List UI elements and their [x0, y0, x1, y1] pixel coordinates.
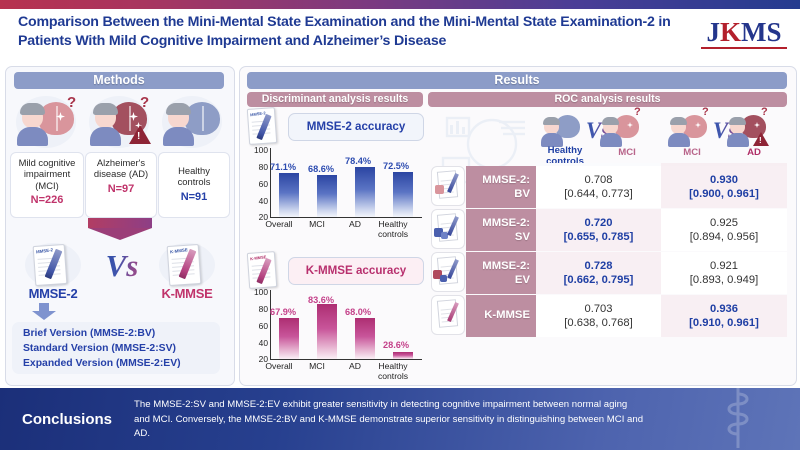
cell-mci-ad: 0.930 [0.900, 0.961] [661, 166, 787, 208]
bar-value-healthy: 72.5% [383, 161, 409, 171]
doc-label: MMSE-2 [250, 110, 266, 117]
doc-label: MMSE-2 [36, 247, 54, 254]
vs-label: Vs [100, 249, 144, 283]
arrow-tip [88, 228, 152, 240]
roc-group-label-left: MCI [663, 148, 721, 159]
question-mark-icon: ? [702, 107, 709, 118]
person-hair [166, 103, 191, 115]
poster-root: Comparison Between the Mini-Mental State… [0, 0, 800, 450]
chart-bars: 71.1% 68.6% 78.4% 72.5% [273, 148, 422, 217]
cell-value: 0.936 [661, 302, 787, 316]
mmse2-bv-doc-icon [431, 166, 465, 206]
mmse2-label: MMSE-2 [14, 286, 92, 301]
person-hair [670, 117, 687, 125]
bar-overall [279, 173, 299, 217]
comparison-mci-vs-ad: ? Vs ? ! MCI AD [663, 110, 785, 162]
person-body [727, 133, 749, 147]
bar-healthy [393, 172, 413, 217]
kmmse-doc-icon [431, 295, 465, 335]
person-hair [93, 103, 118, 115]
results-heading: Results [247, 72, 787, 89]
cell-value: 0.708 [536, 173, 661, 187]
row-label-mmse2-bv: MMSE-2: BV [466, 166, 536, 208]
down-arrow-small-icon [32, 303, 56, 320]
jkms-logo-text: JKMS [698, 19, 790, 46]
y-axis-ticks: 100 80 60 40 20 [246, 288, 268, 360]
bar-value-ad: 78.4% [345, 156, 371, 166]
asclepius-rod-icon [710, 388, 766, 450]
group-card-mci: Mild cognitive impairment (MCI) N=226 [10, 152, 84, 218]
cell-value: 0.925 [661, 216, 787, 230]
cell-hc-mci: 0.728 [0.662, 0.795] [536, 252, 661, 294]
person-hair [602, 117, 619, 125]
bar-value-ad: 68.0% [345, 307, 371, 317]
person-brain-mci-icon: ? [598, 110, 642, 150]
cell-hc-mci: 0.708 [0.644, 0.773] [536, 166, 661, 208]
arrow-shaft [88, 218, 152, 228]
cell-hc-mci: 0.703 [0.638, 0.768] [536, 295, 661, 337]
person-brain-mci-icon: ? [12, 94, 82, 150]
table-row: MMSE-2: SV 0.720 [0.655, 0.785] 0.925 [0… [466, 209, 787, 251]
logo-letter-k: K [720, 17, 741, 47]
top-gradient-rule [0, 0, 800, 9]
cell-ci: [0.893, 0.949] [661, 273, 787, 287]
question-mark-icon: ? [67, 95, 76, 110]
table-row: K-MMSE 0.703 [0.638, 0.768] 0.936 [0.910… [466, 295, 787, 337]
bar-healthy [393, 352, 413, 359]
warning-exclamation: ! [759, 137, 762, 145]
y-axis-line [270, 148, 271, 218]
row-label-line2: BV [514, 188, 530, 200]
title-bar: Comparison Between the Mini-Mental State… [0, 9, 800, 62]
mmse2-chart-doc-icon: MMSE-2 [248, 108, 282, 148]
kmmse-chart-doc-icon: K-MMSE [248, 252, 282, 292]
puzzle-piece-icon [440, 275, 447, 282]
y-tick: 100 [246, 288, 268, 296]
y-axis-line [270, 290, 271, 360]
row-label-mmse2-ev: MMSE-2: EV [466, 252, 536, 294]
bar-mci [317, 175, 337, 217]
person-body [90, 127, 121, 146]
y-axis-ticks: 100 80 60 40 20 [246, 146, 268, 218]
chart-bars: 67.9% 83.6% 68.0% 28.6% [273, 290, 422, 359]
comparison-healthy-vs-mci: Vs ? Healthy controls MCI [536, 110, 658, 162]
person-body [17, 127, 48, 146]
mmse2-versions-box: Brief Version (MMSE-2:BV) Standard Versi… [12, 322, 220, 374]
table-row: MMSE-2: BV 0.708 [0.644, 0.773] 0.930 [0… [466, 166, 787, 208]
y-tick: 80 [246, 163, 268, 171]
row-label-line1: MMSE-2: [482, 174, 530, 186]
kmmse-side: K-MMSE K-MMSE [148, 243, 226, 305]
person-brain-healthy-icon [539, 110, 583, 150]
bar-overall [279, 318, 299, 359]
puzzle-piece-icon [435, 185, 444, 194]
logo-letter-j: J [706, 17, 720, 47]
bar-value-mci: 83.6% [308, 295, 334, 305]
row-label-line2: SV [515, 231, 530, 243]
person-brain-ad-icon: ? ! [85, 94, 155, 150]
cell-ci: [0.638, 0.768] [536, 316, 661, 330]
y-tick: 100 [246, 146, 268, 154]
row-label-line1: MMSE-2: [482, 217, 530, 229]
mmse2-sv-doc-icon [431, 209, 465, 249]
person-hair [20, 103, 45, 115]
question-mark-icon: ? [140, 95, 149, 110]
conclusions-bar: Conclusions The MMSE-2:SV and MMSE-2:EV … [0, 388, 800, 450]
person-body [600, 133, 622, 147]
discriminant-analysis-heading: Discriminant analysis results [247, 92, 423, 107]
cell-ci: [0.900, 0.961] [661, 187, 787, 201]
warning-exclamation: ! [137, 132, 140, 142]
conclusions-title: Conclusions [22, 411, 112, 428]
jkms-logo: JKMS [698, 19, 790, 53]
roc-group-label-right: AD [725, 148, 783, 159]
person-body [668, 133, 690, 147]
mmse2-side: MMSE-2 MMSE-2 [14, 243, 92, 305]
bar-value-overall: 71.1% [270, 162, 296, 172]
cell-value: 0.703 [536, 302, 661, 316]
cell-mci-ad: 0.936 [0.910, 0.961] [661, 295, 787, 337]
person-brain-healthy-icon [158, 94, 228, 150]
version-item-sv: Standard Version (MMSE-2:SV) [12, 341, 220, 356]
cell-value: 0.921 [661, 259, 787, 273]
cell-ci: [0.910, 0.961] [661, 316, 787, 330]
conclusions-text: The MMSE-2:SV and MMSE-2:EV exhibit grea… [134, 398, 644, 442]
methods-group-icons: ? ? ! [10, 94, 230, 150]
roc-comparison-headers: Vs ? Healthy controls MCI ? Vs [536, 110, 787, 162]
y-tick: 80 [246, 305, 268, 313]
cell-ci: [0.644, 0.773] [536, 187, 661, 201]
bar-value-healthy: 28.6% [383, 340, 409, 350]
cell-ci: [0.655, 0.785] [536, 230, 661, 244]
group-card-ad: Alzheimer's disease (AD) N=97 [85, 152, 157, 218]
mmse2-accuracy-chart: 100 80 60 40 20 71.1% 68.6% 78.4% 72.5% … [246, 146, 426, 238]
group-card-n: N=91 [159, 191, 229, 203]
roc-group-label-right: MCI [598, 148, 656, 159]
kmmse-label: K-MMSE [148, 286, 226, 301]
mmse2-accuracy-title: MMSE-2 accuracy [288, 113, 424, 141]
page-title: Comparison Between the Mini-Mental State… [18, 13, 678, 50]
methods-heading: Methods [14, 72, 224, 89]
kmmse-accuracy-chart: 100 80 60 40 20 67.9% 83.6% 68.0% 28.6% … [246, 288, 426, 380]
y-tick: 40 [246, 197, 268, 205]
version-item-bv: Brief Version (MMSE-2:BV) [12, 322, 220, 341]
bar-ad [355, 318, 375, 359]
y-tick: 40 [246, 339, 268, 347]
row-label-kmmse: K-MMSE [466, 295, 536, 337]
roc-results-table: MMSE-2: BV 0.708 [0.644, 0.773] 0.930 [0… [466, 163, 787, 376]
cell-value: 0.720 [536, 216, 661, 230]
kmmse-accuracy-title: K-MMSE accuracy [288, 257, 424, 285]
row-label-line2: EV [515, 274, 530, 286]
table-row: MMSE-2: EV 0.728 [0.662, 0.795] 0.921 [0… [466, 252, 787, 294]
cell-hc-mci: 0.720 [0.655, 0.785] [536, 209, 661, 251]
cell-value: 0.930 [661, 173, 787, 187]
cell-value: 0.728 [536, 259, 661, 273]
x-tick-healthy: Healthy controls [371, 362, 415, 381]
person-brain-mci-icon: ? [666, 110, 710, 150]
cell-mci-ad: 0.921 [0.893, 0.949] [661, 252, 787, 294]
logo-underline [701, 47, 787, 49]
group-card-n: N=226 [11, 194, 83, 206]
mmse2-ev-doc-icon [431, 252, 465, 292]
cell-ci: [0.894, 0.956] [661, 230, 787, 244]
group-card-n: N=97 [86, 183, 156, 195]
bar-value-mci: 68.6% [308, 164, 334, 174]
row-label-line1: MMSE-2: [482, 260, 530, 272]
bar-ad [355, 167, 375, 217]
y-tick: 60 [246, 322, 268, 330]
group-card-label: Healthy controls [159, 165, 229, 188]
question-mark-icon: ? [634, 107, 641, 118]
x-tick-healthy: Healthy controls [371, 220, 415, 239]
roc-analysis-heading: ROC analysis results [428, 92, 787, 107]
row-label-mmse2-sv: MMSE-2: SV [466, 209, 536, 251]
version-item-ev: Expanded Version (MMSE-2:EV) [12, 356, 220, 371]
y-tick: 60 [246, 180, 268, 188]
bar-mci [317, 304, 337, 359]
group-card-healthy: Healthy controls N=91 [158, 152, 230, 218]
methods-comparison: MMSE-2 MMSE-2 Vs K-MMSE K-MMSE [10, 243, 230, 305]
group-card-label: Mild cognitive impairment (MCI) [11, 157, 83, 191]
person-body [163, 127, 194, 146]
bar-value-overall: 67.9% [270, 307, 296, 317]
logo-letters-ms: MS [741, 17, 782, 47]
person-hair [543, 117, 560, 125]
doc-label: K-MMSE [170, 247, 188, 254]
group-card-label: Alzheimer's disease (AD) [86, 157, 156, 180]
person-hair [729, 117, 746, 125]
cell-ci: [0.662, 0.795] [536, 273, 661, 287]
question-mark-icon: ? [761, 107, 768, 118]
down-arrow-wide-icon [74, 218, 166, 240]
cell-mci-ad: 0.925 [0.894, 0.956] [661, 209, 787, 251]
person-brain-ad-icon: ? ! [725, 110, 769, 150]
